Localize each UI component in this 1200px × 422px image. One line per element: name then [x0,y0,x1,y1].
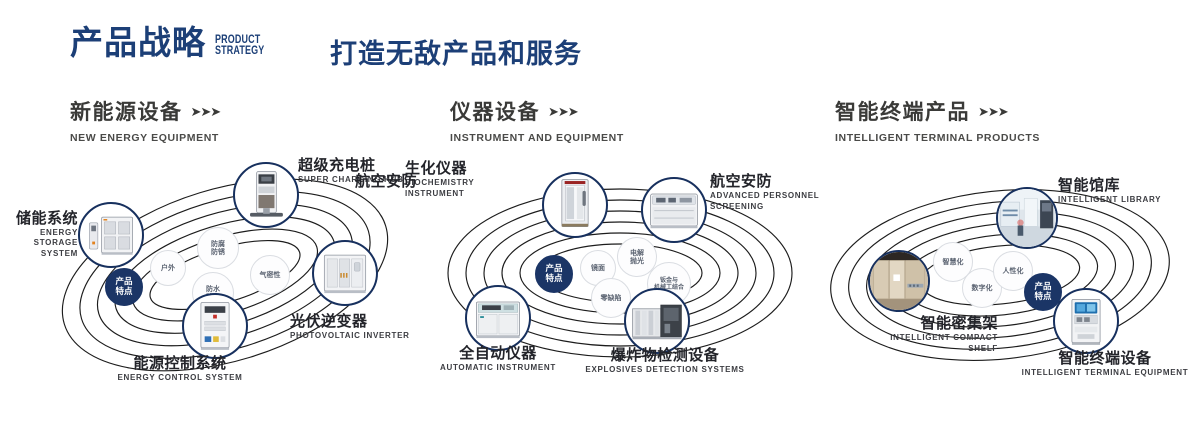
feature-label: 户外 [161,264,175,273]
control-cabinet-icon [184,295,246,357]
node-intelligent-compact-shelf[interactable] [868,250,930,312]
label-intelligent-library: 智能馆库 INTELLIGENT LIBRARY [1058,177,1200,205]
node-label-en-1: EXPLOSIVES DETECTION SYSTEMS [575,365,755,375]
energy-storage-cabinet-icon [80,204,142,266]
security-gate-icon [544,174,606,236]
self-service-kiosk-icon [1055,290,1117,352]
label-biochemistry-instrument: 生化仪器 BIOCHEMISTRY INSTRUMENT [405,160,545,199]
node-label-en-2: SYSTEM [0,249,78,259]
node-label-cn: 全自动仪器 [413,345,583,362]
screening-machine-icon [643,179,705,241]
section-title-cn: 仪器设备 [450,96,540,126]
node-energy-control-system[interactable] [182,293,248,359]
chevron-right-icon: ➤➤➤ [978,105,1008,118]
node-label-en-1: INTELLIGENT TERMINAL EQUIPMENT [1010,368,1200,378]
feature-label: 零缺陷 [601,294,622,303]
node-energy-storage-system[interactable] [78,202,144,268]
feature-bubble: 户外 [150,250,186,286]
compact-shelf-photo [870,252,928,310]
node-label-cn: 爆炸物检测设备 [575,347,755,364]
node-label-en-1: ENERGY STORAGE [0,228,78,248]
section-title-cn: 新能源设备 [70,96,183,126]
core-bubble-line1: 产品 [1034,282,1051,292]
header-title-cn: 产品战略 [70,26,206,59]
chevron-right-icon: ➤➤➤ [191,105,221,118]
node-label-en-1: ENERGY CONTROL SYSTEM [80,373,280,383]
header-title-en-line2: STRATEGY [215,46,264,57]
feature-label: 电解 抛光 [630,249,644,266]
feature-label: 镜面 [591,264,605,273]
node-photovoltaic-inverter[interactable] [312,240,378,306]
feature-label: 人性化 [1003,267,1024,276]
poster-header: 产品战略 PRODUCT STRATEGY [70,26,278,59]
feature-label: 气密性 [260,271,281,280]
node-biochemistry-instrument[interactable] [542,172,608,238]
node-label-en-2: INSTRUMENT [405,189,545,199]
node-label-en-1: INTELLIGENT COMPACT [838,333,998,343]
node-super-charging-hub[interactable] [233,162,299,228]
core-bubble-line2: 特点 [545,274,562,284]
feature-label: 智慧化 [943,258,964,267]
core-bubble-product-features: 产品特点 [105,268,143,306]
label-aviation-security-left: 航空安防 [307,173,417,190]
library-interior-photo [998,189,1056,247]
label-intelligent-terminal-equipment: 智能终端设备 INTELLIGENT TERMINAL EQUIPMENT [1010,350,1200,378]
node-label-en-1: BIOCHEMISTRY [405,178,545,188]
cluster-intelligent-terminal: 智慧化 数字化 人性化 产品特点 [810,155,1200,385]
section-title-new-energy: 新能源设备 ➤➤➤ NEW ENERGY EQUIPMENT [70,96,220,144]
node-label-cn: 智能馆库 [1058,177,1200,194]
node-intelligent-terminal-equipment[interactable] [1053,288,1119,354]
core-bubble-line2: 特点 [115,287,132,297]
core-bubble-line2: 特点 [1034,292,1051,302]
node-label-cn: 生化仪器 [405,160,545,177]
label-explosives-detection-systems: 爆炸物检测设备 EXPLOSIVES DETECTION SYSTEMS [575,347,755,375]
node-label-cn: 智能终端设备 [1010,350,1200,367]
core-bubble-line1: 产品 [115,277,132,287]
node-label-en-2: SHELF [838,344,998,354]
node-label-cn: 储能系统 [0,210,78,227]
explosives-detector-icon [626,290,688,352]
label-intelligent-compact-shelf: 智能密集架 INTELLIGENT COMPACT SHELF [838,315,998,354]
node-label-cn: 智能密集架 [838,315,998,332]
charging-pile-icon [235,164,297,226]
poster-canvas: 产品战略 PRODUCT STRATEGY 打造无敌产品和服务 新能源设备 ➤➤… [0,0,1200,422]
label-automatic-instrument: 全自动仪器 AUTOMATIC INSTRUMENT [413,345,583,373]
label-energy-control-system: 能源控制系统 ENERGY CONTROL SYSTEM [80,355,280,383]
label-energy-storage-system: 储能系统 ENERGY STORAGE SYSTEM [0,210,78,259]
node-label-en-1: AUTOMATIC INSTRUMENT [413,363,583,373]
section-title-en: NEW ENERGY EQUIPMENT [70,132,220,144]
section-title-cn: 智能终端产品 [835,96,970,126]
node-label-cn: 航空安防 [307,173,417,190]
node-label-cn: 能源控制系统 [80,355,280,372]
node-label-en-1: INTELLIGENT LIBRARY [1058,195,1200,205]
core-bubble-line1: 产品 [545,264,562,274]
chevron-right-icon: ➤➤➤ [548,105,578,118]
node-automatic-instrument[interactable] [465,285,531,351]
header-title-en: PRODUCT STRATEGY [215,35,264,57]
feature-bubble: 防腐 防锈 [197,227,239,269]
feature-bubble: 气密性 [250,255,290,295]
feature-label: 数字化 [972,284,993,293]
section-title-en: INTELLIGENT TERMINAL PRODUCTS [835,132,1040,144]
node-explosives-detection-systems[interactable] [624,288,690,354]
section-title-en: INSTRUMENT AND EQUIPMENT [450,132,624,144]
inverter-cabinet-icon [314,242,376,304]
cluster-instrument: 镜面 电解 抛光 钣金与 机械工结合 零缺陷 产品特点 [425,155,815,385]
automatic-analyzer-icon [467,287,529,349]
section-title-intelligent-terminal: 智能终端产品 ➤➤➤ INTELLIGENT TERMINAL PRODUCTS [835,96,1040,144]
header-subtitle: 打造无敌产品和服务 [330,32,582,71]
node-advanced-personnel-screening[interactable] [641,177,707,243]
feature-label: 防腐 防锈 [211,240,225,257]
section-title-instrument: 仪器设备 ➤➤➤ INSTRUMENT AND EQUIPMENT [450,96,624,144]
core-bubble-product-features: 产品特点 [535,255,573,293]
node-intelligent-library[interactable] [996,187,1058,249]
